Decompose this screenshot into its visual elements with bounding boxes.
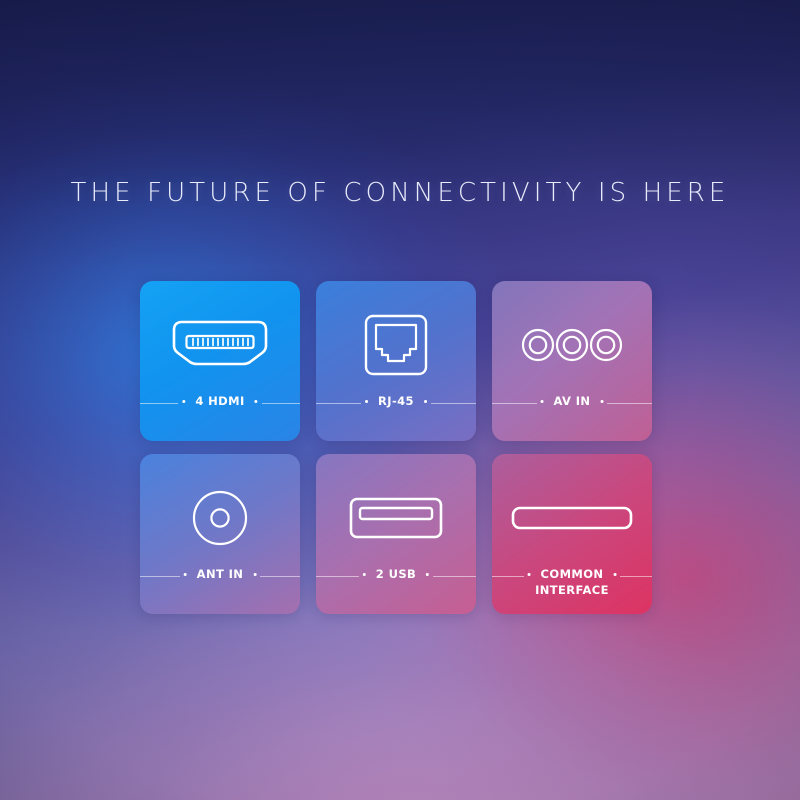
bullet-dot-right: [613, 573, 616, 576]
label-rule-left: [492, 576, 524, 577]
label-rule-right: [607, 403, 652, 404]
bullet-dot-right: [600, 400, 603, 403]
card-av-in[interactable]: AV IN: [492, 281, 652, 441]
page-title: THE FUTURE OF CONNECTIVITY IS HERE: [0, 178, 800, 208]
label-rule-right: [431, 403, 476, 404]
card-label: 4 HDMI: [192, 394, 247, 409]
bullet-dot-left: [365, 400, 368, 403]
hdmi-port-icon: [140, 303, 300, 387]
card-label: ANT IN: [194, 567, 247, 582]
card-label: RJ-45: [375, 394, 417, 409]
label-rule-right: [433, 576, 476, 577]
label-rule-left: [316, 403, 361, 404]
bullet-dot-right: [426, 573, 429, 576]
card-label-row: ANT IN: [140, 566, 300, 610]
card-label-second-line: INTERFACE: [532, 583, 612, 598]
rj45-port-icon: [316, 303, 476, 387]
label-rule-left: [316, 576, 359, 577]
card-common-interface[interactable]: COMMON INTERFACE: [492, 454, 652, 614]
connectivity-poster: THE FUTURE OF CONNECTIVITY IS HERE: [0, 0, 800, 800]
card-label: COMMON: [538, 567, 607, 582]
card-label-row: 2 USB: [316, 566, 476, 610]
usb-port-icon: [316, 476, 476, 560]
ci-card-slot-icon: [492, 476, 652, 560]
card-rj45[interactable]: RJ-45: [316, 281, 476, 441]
card-ant-in[interactable]: ANT IN: [140, 454, 300, 614]
card-usb[interactable]: 2 USB: [316, 454, 476, 614]
connectivity-card-grid: 4 HDMI RJ-45: [140, 281, 652, 614]
card-hdmi[interactable]: 4 HDMI: [140, 281, 300, 441]
label-rule-left: [140, 403, 178, 404]
bullet-dot-left: [182, 400, 185, 403]
bullet-dot-left: [363, 573, 366, 576]
card-label-row: COMMON INTERFACE: [492, 566, 652, 610]
card-label: 2 USB: [373, 567, 419, 582]
card-label: AV IN: [551, 394, 594, 409]
card-label-row: AV IN: [492, 393, 652, 437]
label-rule-right: [262, 403, 300, 404]
card-label-row: 4 HDMI: [140, 393, 300, 437]
label-rule-right: [620, 576, 652, 577]
bullet-dot-left: [541, 400, 544, 403]
bullet-dot-left: [528, 573, 531, 576]
bullet-dot-left: [184, 573, 187, 576]
bullet-dot-right: [424, 400, 427, 403]
bullet-dot-right: [255, 400, 258, 403]
bullet-dot-right: [253, 573, 256, 576]
label-rule-left: [140, 576, 180, 577]
coax-antenna-icon: [140, 476, 300, 560]
card-label-row: RJ-45: [316, 393, 476, 437]
label-rule-left: [492, 403, 537, 404]
rca-jacks-icon: [492, 303, 652, 387]
label-rule-right: [260, 576, 300, 577]
